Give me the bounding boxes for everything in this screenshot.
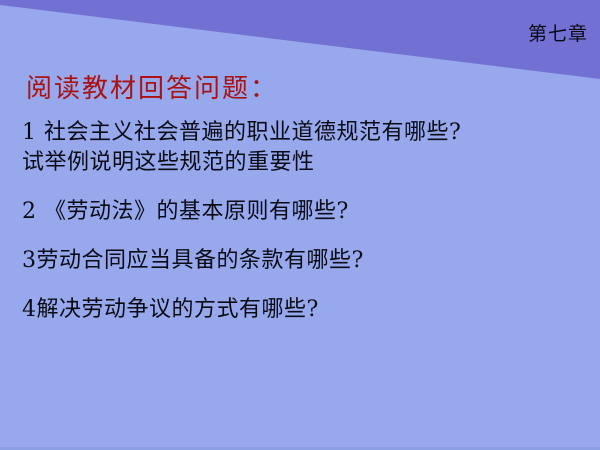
list-item: 1 社会主义社会普遍的职业道德规范有哪些? 试举例说明这些规范的重要性 [22, 118, 588, 178]
chapter-label: 第七章 [528, 22, 588, 46]
decorative-diagonal-band [0, 0, 600, 82]
list-item: 2 《劳动法》的基本原则有哪些? [22, 197, 588, 227]
list-item: 3劳动合同应当具备的条款有哪些? [22, 246, 588, 276]
question-line: 试举例说明这些规范的重要性 [22, 148, 588, 178]
question-line: 4解决劳动争议的方式有哪些? [22, 295, 588, 325]
slide-canvas: 第七章 阅读教材回答问题： 1 社会主义社会普遍的职业道德规范有哪些? 试举例说… [0, 0, 600, 450]
question-line: 1 社会主义社会普遍的职业道德规范有哪些? [22, 118, 588, 148]
question-line: 3劳动合同应当具备的条款有哪些? [22, 246, 588, 276]
page-title: 阅读教材回答问题： [26, 72, 278, 106]
list-item: 4解决劳动争议的方式有哪些? [22, 295, 588, 325]
question-list: 1 社会主义社会普遍的职业道德规范有哪些? 试举例说明这些规范的重要性 2 《劳… [22, 118, 588, 325]
question-line: 2 《劳动法》的基本原则有哪些? [22, 197, 588, 227]
